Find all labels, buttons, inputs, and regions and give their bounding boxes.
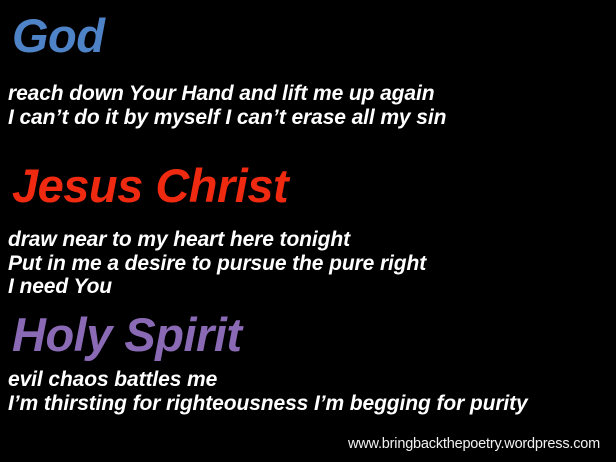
stanza-body-god: reach down Your Hand and lift me up agai…	[8, 82, 608, 129]
stanza-heading-holy-spirit: Holy Spirit	[12, 311, 242, 358]
stanza-heading-jesus-christ: Jesus Christ	[12, 162, 288, 209]
lyric-line: evil chaos battles me	[8, 368, 608, 392]
stanza-body-jesus-christ: draw near to my heart here tonight Put i…	[8, 228, 608, 299]
lyric-line: draw near to my heart here tonight	[8, 228, 608, 252]
lyric-line: I’m thirsting for righteousness I’m begg…	[8, 392, 608, 416]
footer-credit-url: www.bringbackthepoetry.wordpress.com	[348, 436, 600, 452]
stanza-body-holy-spirit: evil chaos battles me I’m thirsting for …	[8, 368, 608, 415]
lyric-line: I need You	[8, 275, 608, 299]
lyric-line: reach down Your Hand and lift me up agai…	[8, 82, 608, 106]
lyric-line: I can’t do it by myself I can’t erase al…	[8, 106, 608, 130]
lyric-line: Put in me a desire to pursue the pure ri…	[8, 252, 608, 276]
stanza-heading-god: God	[12, 12, 104, 59]
poem-slide: God reach down Your Hand and lift me up …	[0, 0, 616, 462]
